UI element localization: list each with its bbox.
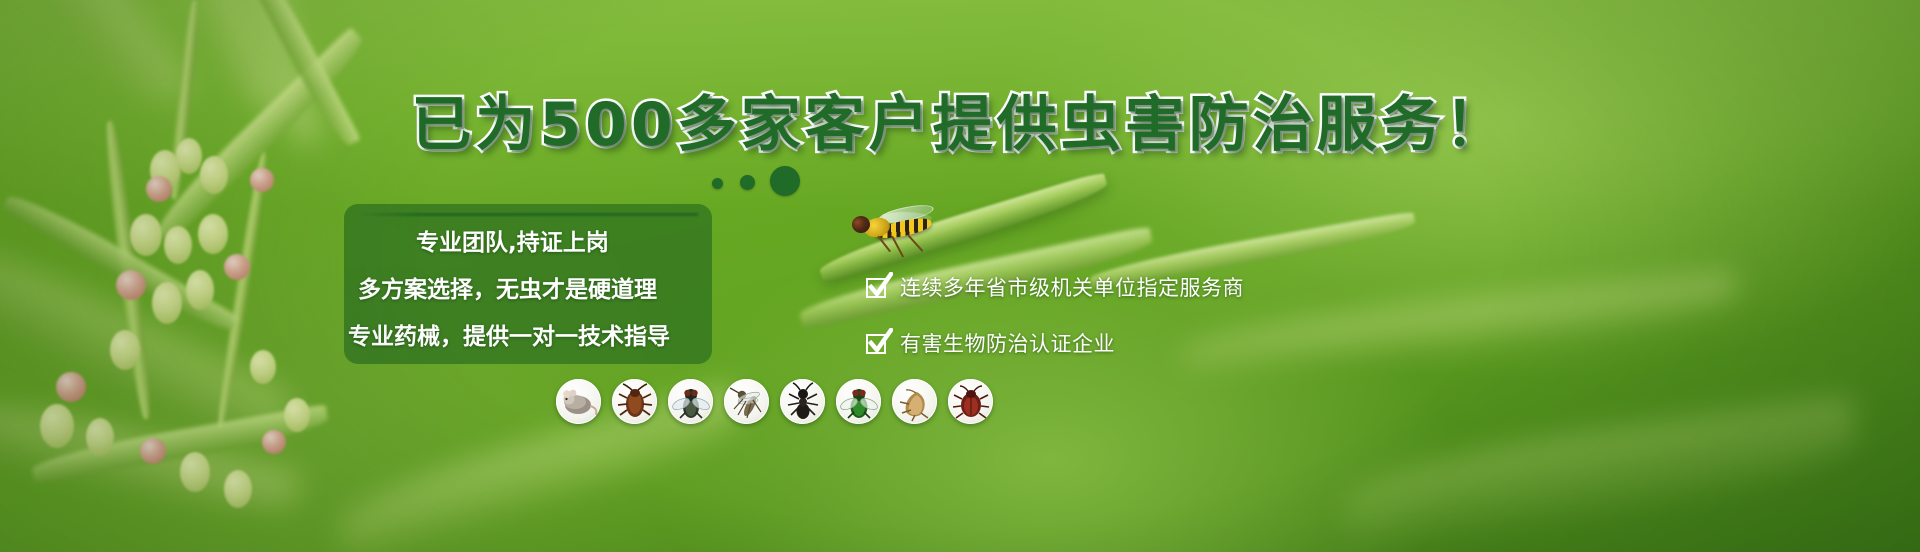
background-vignette	[0, 0, 1920, 552]
pest-control-banner: 已为500多家客户提供虫害防治服务！ 专业团队,持证上岗 多方案选择，无虫才是硬…	[0, 0, 1920, 552]
